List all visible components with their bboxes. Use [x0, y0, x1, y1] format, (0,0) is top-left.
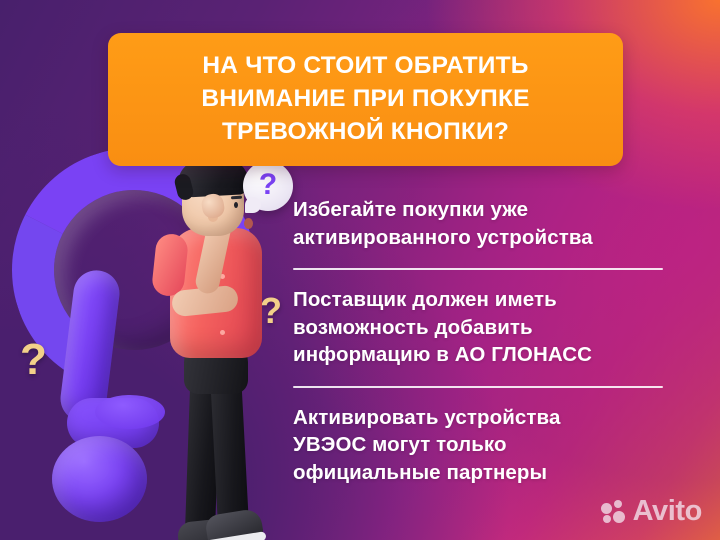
character-mouth — [244, 218, 253, 229]
list-item: Избегайте покупки уже активированного ус… — [293, 196, 663, 251]
divider — [293, 268, 663, 270]
shirt-button — [220, 330, 225, 335]
avito-wordmark: Avito — [633, 497, 702, 526]
headline-banner: НА ЧТО СТОИТ ОБРАТИТЬ ВНИМАНИЕ ПРИ ПОКУП… — [108, 33, 623, 166]
bubble-question-mark: ? — [243, 161, 293, 211]
list-item: Активировать устройства УВЭОС могут толь… — [293, 404, 663, 487]
divider — [293, 386, 663, 388]
point-text: Поставщик должен иметь возможность добав… — [293, 286, 663, 369]
avito-logo-icon — [601, 500, 626, 524]
question-mark-dot — [52, 436, 147, 522]
page-title: НА ЧТО СТОИТ ОБРАТИТЬ ВНИМАНИЕ ПРИ ПОКУП… — [126, 49, 605, 148]
character-left-eyebrow — [231, 196, 242, 199]
character-left-eye — [234, 202, 238, 208]
small-question-mark-left-icon: ? — [20, 335, 47, 385]
character-illustration — [150, 160, 290, 515]
points-list: Избегайте покупки уже активированного ус… — [293, 196, 663, 486]
point-text: Избегайте покупки уже активированного ус… — [293, 196, 663, 251]
promo-banner-canvas: ? ? ? НА ЧТО СТОИТ О — [0, 0, 720, 540]
avito-watermark: Avito — [601, 497, 702, 526]
point-text: Активировать устройства УВЭОС могут толь… — [293, 404, 663, 487]
list-item: Поставщик должен иметь возможность добав… — [293, 286, 663, 369]
thought-bubble-icon: ? — [243, 161, 293, 211]
